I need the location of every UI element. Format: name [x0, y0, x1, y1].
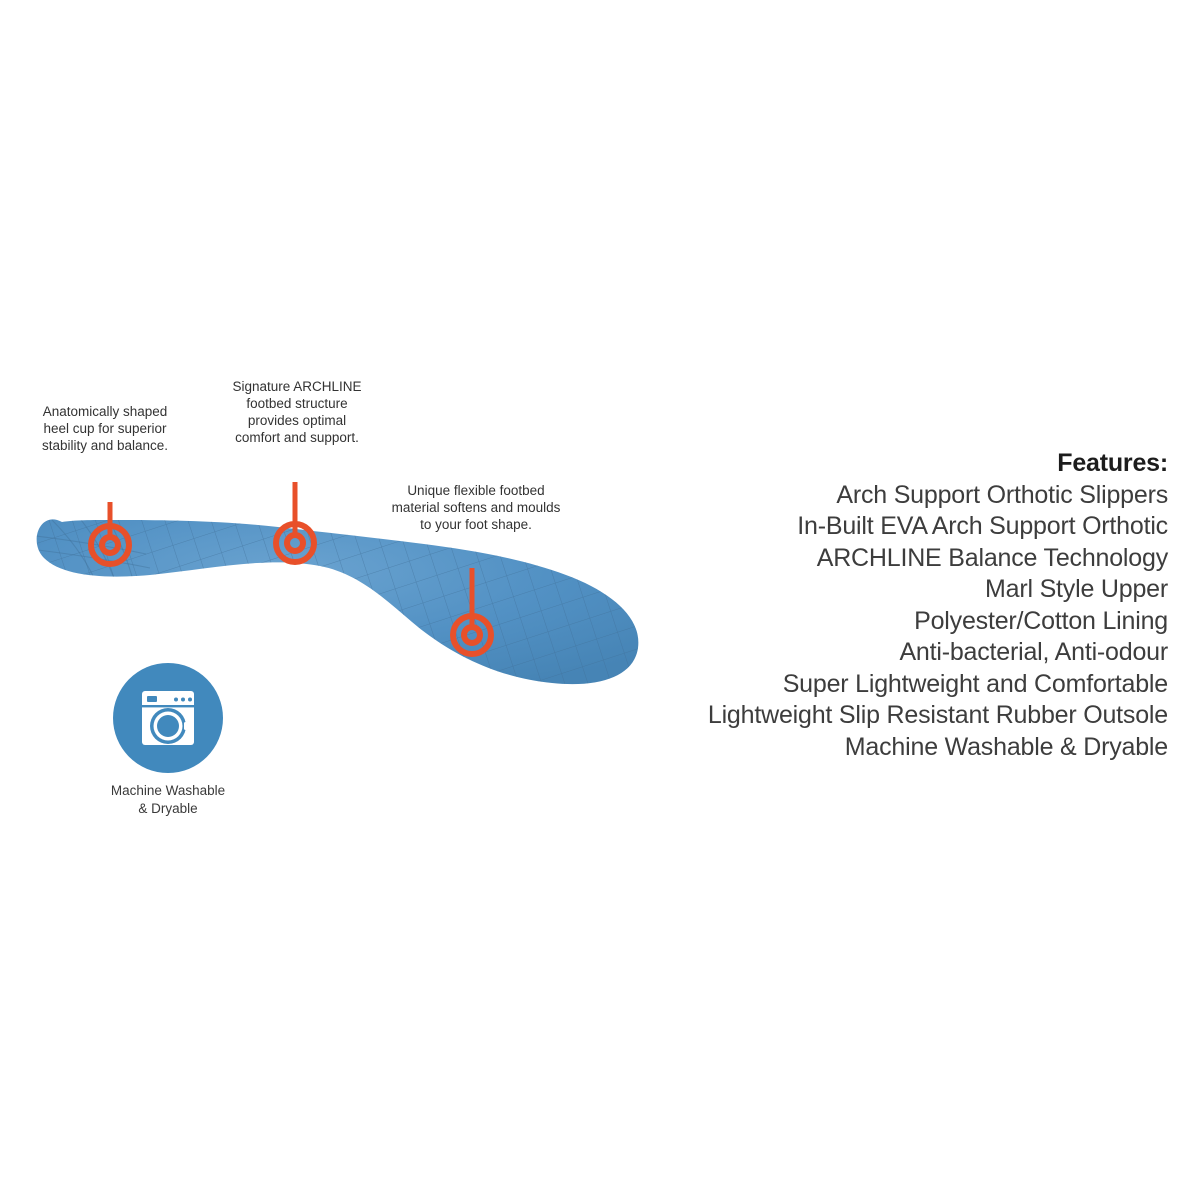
feature-item: Polyester/Cotton Lining: [608, 606, 1168, 638]
washing-machine-icon: [113, 663, 223, 773]
feature-item: Super Lightweight and Comfortable: [608, 669, 1168, 701]
feature-item: Machine Washable & Dryable: [608, 732, 1168, 764]
features-panel: Features: Arch Support Orthotic Slippers…: [608, 448, 1168, 763]
feature-item: Arch Support Orthotic Slippers: [608, 480, 1168, 512]
feature-item: In-Built EVA Arch Support Orthotic: [608, 511, 1168, 543]
feature-item: Lightweight Slip Resistant Rubber Outsol…: [608, 700, 1168, 732]
feature-item: Marl Style Upper: [608, 574, 1168, 606]
feature-item: Anti-bacterial, Anti-odour: [608, 637, 1168, 669]
badge-caption: Machine Washable & Dryable: [68, 782, 268, 817]
feature-item: ARCHLINE Balance Technology: [608, 543, 1168, 575]
callout-marker-heel[interactable]: [91, 502, 129, 564]
callout-label-arch: Signature ARCHLINE footbed structure pro…: [208, 379, 386, 447]
badge-circle: [113, 663, 223, 773]
features-heading: Features:: [608, 448, 1168, 480]
callout-label-heel: Anatomically shaped heel cup for superio…: [10, 404, 200, 455]
machine-washable-badge: Machine Washable & Dryable: [68, 663, 268, 817]
callout-label-flex: Unique flexible footbed material softens…: [376, 483, 576, 534]
